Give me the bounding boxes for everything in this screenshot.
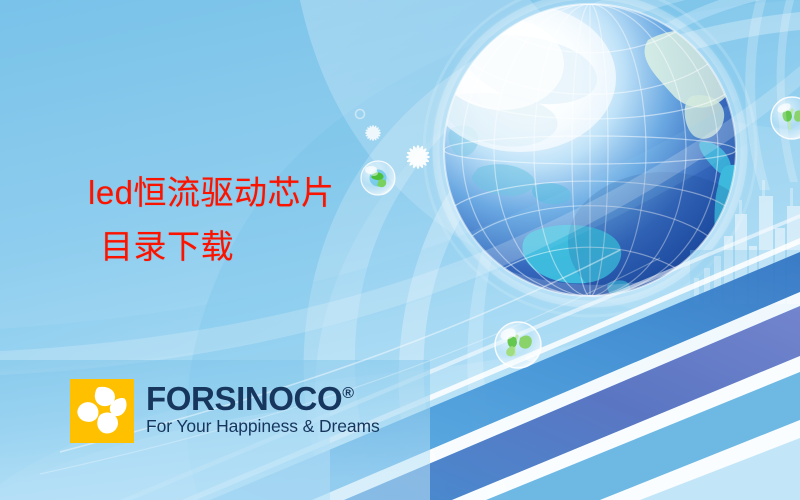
bubble-leaf: [495, 322, 541, 368]
pinwheel-glyph: [70, 379, 134, 443]
wordmark-text: FORSINOCO: [146, 380, 342, 417]
headline-line-1: led恒流驱动芯片: [88, 166, 508, 220]
headline: led恒流驱动芯片 目录下载: [88, 166, 508, 274]
logo-tagline: For Your Happiness & Dreams: [146, 416, 380, 436]
headline-line-2: 目录下载: [88, 220, 508, 274]
registered-mark: ®: [342, 385, 353, 402]
company-logo: FORSINOCO® For Your Happiness & Dreams: [70, 379, 380, 443]
logo-text-block: FORSINOCO® For Your Happiness & Dreams: [146, 379, 380, 436]
four-petal-pinwheel-icon: [70, 379, 134, 443]
logo-wordmark: FORSINOCO®: [146, 382, 380, 415]
slide-canvas: led恒流驱动芯片 目录下载 FORSINOCO® For Your Happi…: [0, 0, 800, 500]
